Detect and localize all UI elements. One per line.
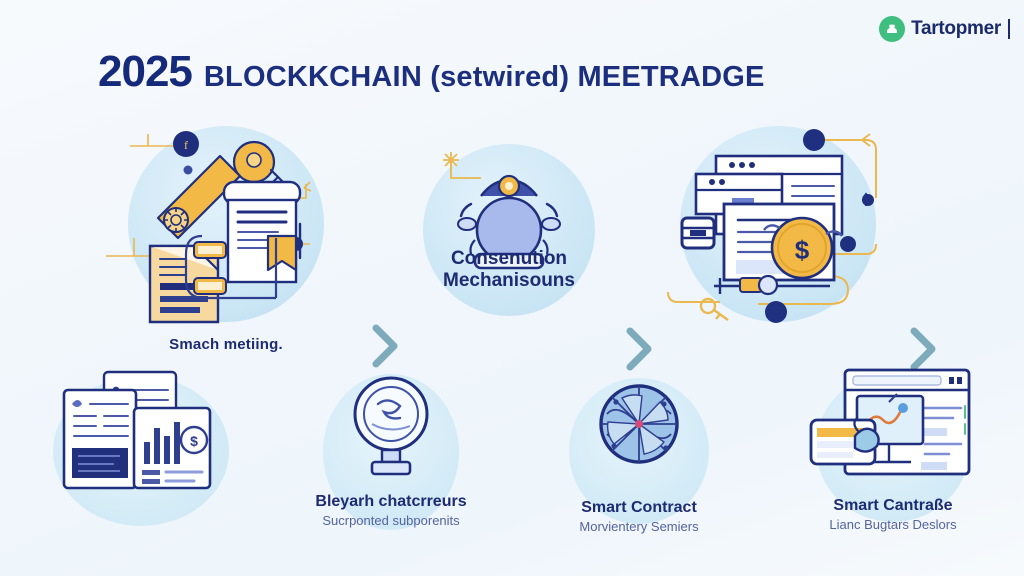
step-2-caption-line1: Consenution xyxy=(399,248,619,270)
title-year: 2025 xyxy=(98,50,192,94)
feature-2-title: Bleyarh chatcrreurs xyxy=(315,492,466,511)
logo-caret xyxy=(1008,19,1010,39)
svg-text:$: $ xyxy=(190,433,198,449)
feature-3[interactable]: Smart Contract Morvientery Semiers xyxy=(516,378,762,535)
title-main: BLOCKKCHAIN (setwired) MEETRADGE xyxy=(204,63,765,92)
documents-chart-icon: $ xyxy=(46,366,236,498)
chevron-right-icon-1 xyxy=(370,323,400,369)
browser-dashboard-icon xyxy=(803,366,983,494)
feature-3-subtitle: Morvientery Semiers xyxy=(579,519,698,535)
features-row: $ xyxy=(0,366,1024,546)
network-sphere-icon xyxy=(564,378,714,496)
page-title: 2025 BLOCKKCHAIN (setwired) MEETRADGE xyxy=(98,50,765,94)
feature-1[interactable]: $ xyxy=(18,366,264,502)
step-1[interactable]: f xyxy=(128,126,324,353)
feature-3-title: Smart Contract xyxy=(579,498,698,517)
feature-2-text: Bleyarh chatcrreurs Sucrponted subporeni… xyxy=(315,492,466,529)
brand-logo[interactable]: Tartopmer xyxy=(879,16,1010,42)
step-3-circle: $ xyxy=(680,126,876,322)
steps-row: f xyxy=(0,118,1024,358)
logo-text: Tartopmer xyxy=(911,18,1001,40)
svg-text:f: f xyxy=(184,138,188,152)
logo-mark-icon xyxy=(879,16,905,42)
step-3[interactable]: $ xyxy=(680,126,876,322)
svg-text:$: $ xyxy=(795,235,810,265)
step-1-caption: Smach metiing. xyxy=(169,336,283,353)
step-2-caption-line2: Mechanisouns xyxy=(399,270,619,292)
feature-2-subtitle: Sucrponted subporenits xyxy=(315,513,466,529)
feature-4-subtitle: Lianc Bugtars Deslors xyxy=(829,517,956,533)
step-2-caption: Consenution Mechanisouns xyxy=(399,248,619,292)
feature-4-title: Smart Cantraße xyxy=(829,496,956,515)
feature-2[interactable]: Bleyarh chatcrreurs Sucrponted subporeni… xyxy=(268,372,514,529)
step-1-circle: f xyxy=(128,126,324,322)
browser-windows-coin-icon: $ xyxy=(680,126,876,322)
step-2[interactable]: Consenution Mechanisouns xyxy=(423,144,595,316)
feature-3-text: Smart Contract Morvientery Semiers xyxy=(579,498,698,535)
infographic-canvas: Tartopmer 2025 BLOCKKCHAIN (setwired) ME… xyxy=(0,0,1024,576)
feature-4-text: Smart Cantraße Lianc Bugtars Deslors xyxy=(829,496,956,533)
key-contract-gear-icon: f xyxy=(128,126,324,322)
feature-4[interactable]: Smart Cantraße Lianc Bugtars Deslors xyxy=(770,366,1016,533)
globe-stand-icon xyxy=(316,372,466,490)
